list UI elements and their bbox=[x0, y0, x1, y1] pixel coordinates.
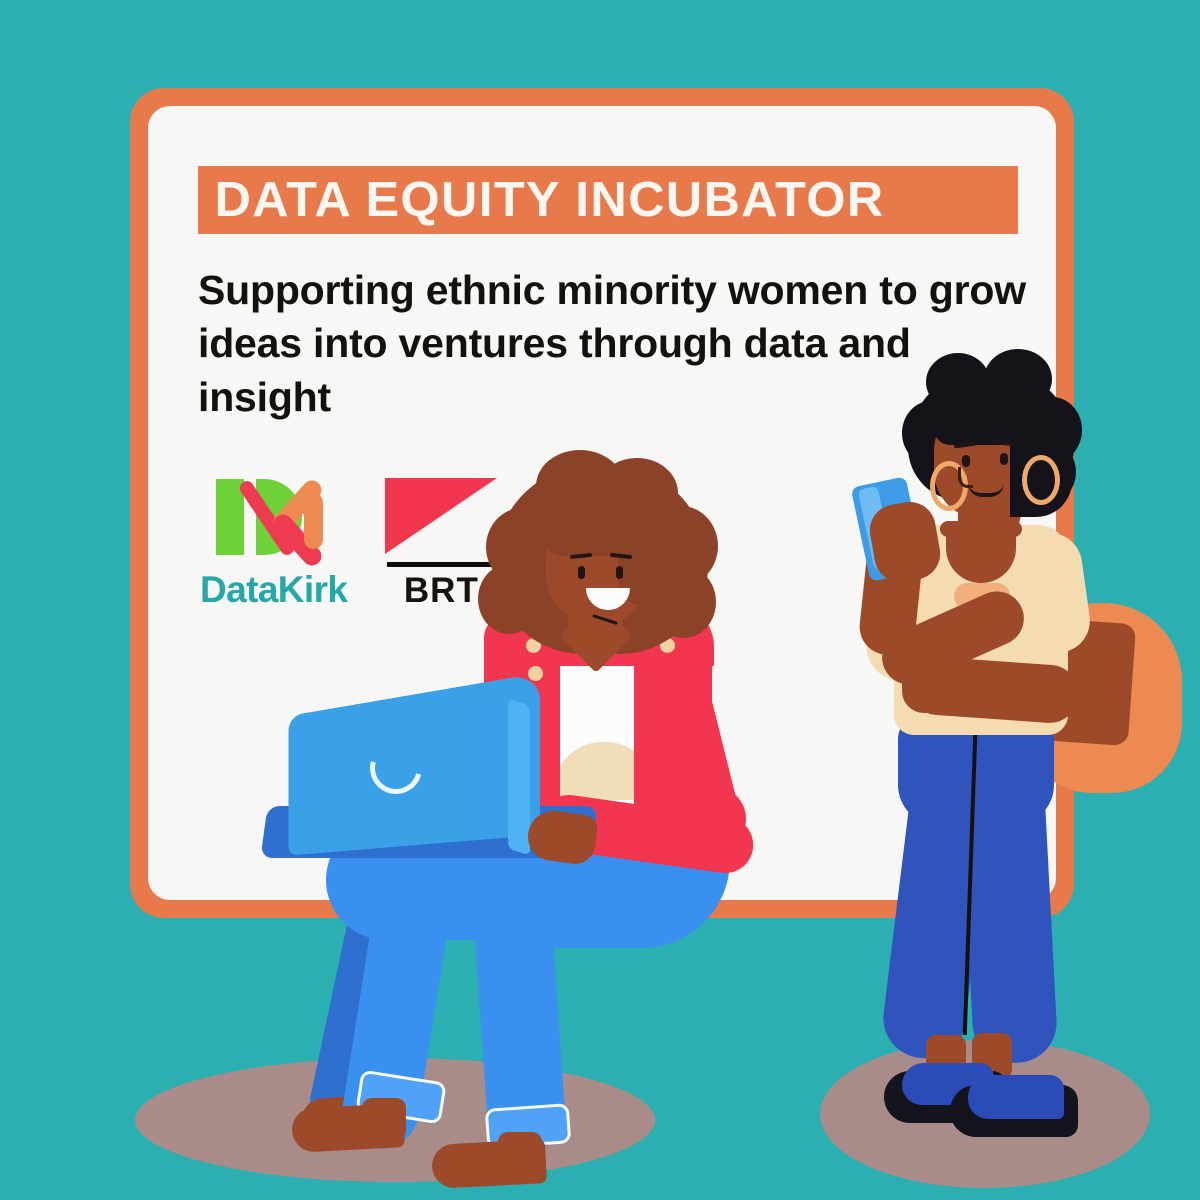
seated-foot bbox=[431, 1139, 547, 1189]
page-title: DATA EQUITY INCUBATOR bbox=[198, 172, 884, 228]
illustration-seated-woman bbox=[240, 520, 760, 1160]
standing-hair-fringe bbox=[934, 389, 1054, 445]
poster-canvas: DATA EQUITY INCUBATOR Supporting ethnic … bbox=[0, 0, 1200, 1200]
seated-hair-curl bbox=[478, 564, 540, 634]
laptop-edge bbox=[508, 698, 530, 855]
hoop-earring-right-icon bbox=[1022, 455, 1060, 505]
seated-eye-left bbox=[578, 566, 585, 579]
seated-jacket-button bbox=[528, 666, 543, 681]
standing-shoe-right-upper bbox=[968, 1075, 1064, 1119]
standing-eye-left bbox=[962, 455, 970, 467]
title-banner: DATA EQUITY INCUBATOR bbox=[198, 166, 1018, 234]
illustration-standing-woman bbox=[850, 385, 1180, 1175]
seated-foot bbox=[291, 1103, 405, 1153]
standing-eye-right bbox=[1000, 453, 1008, 465]
seated-eye-right bbox=[616, 566, 623, 579]
